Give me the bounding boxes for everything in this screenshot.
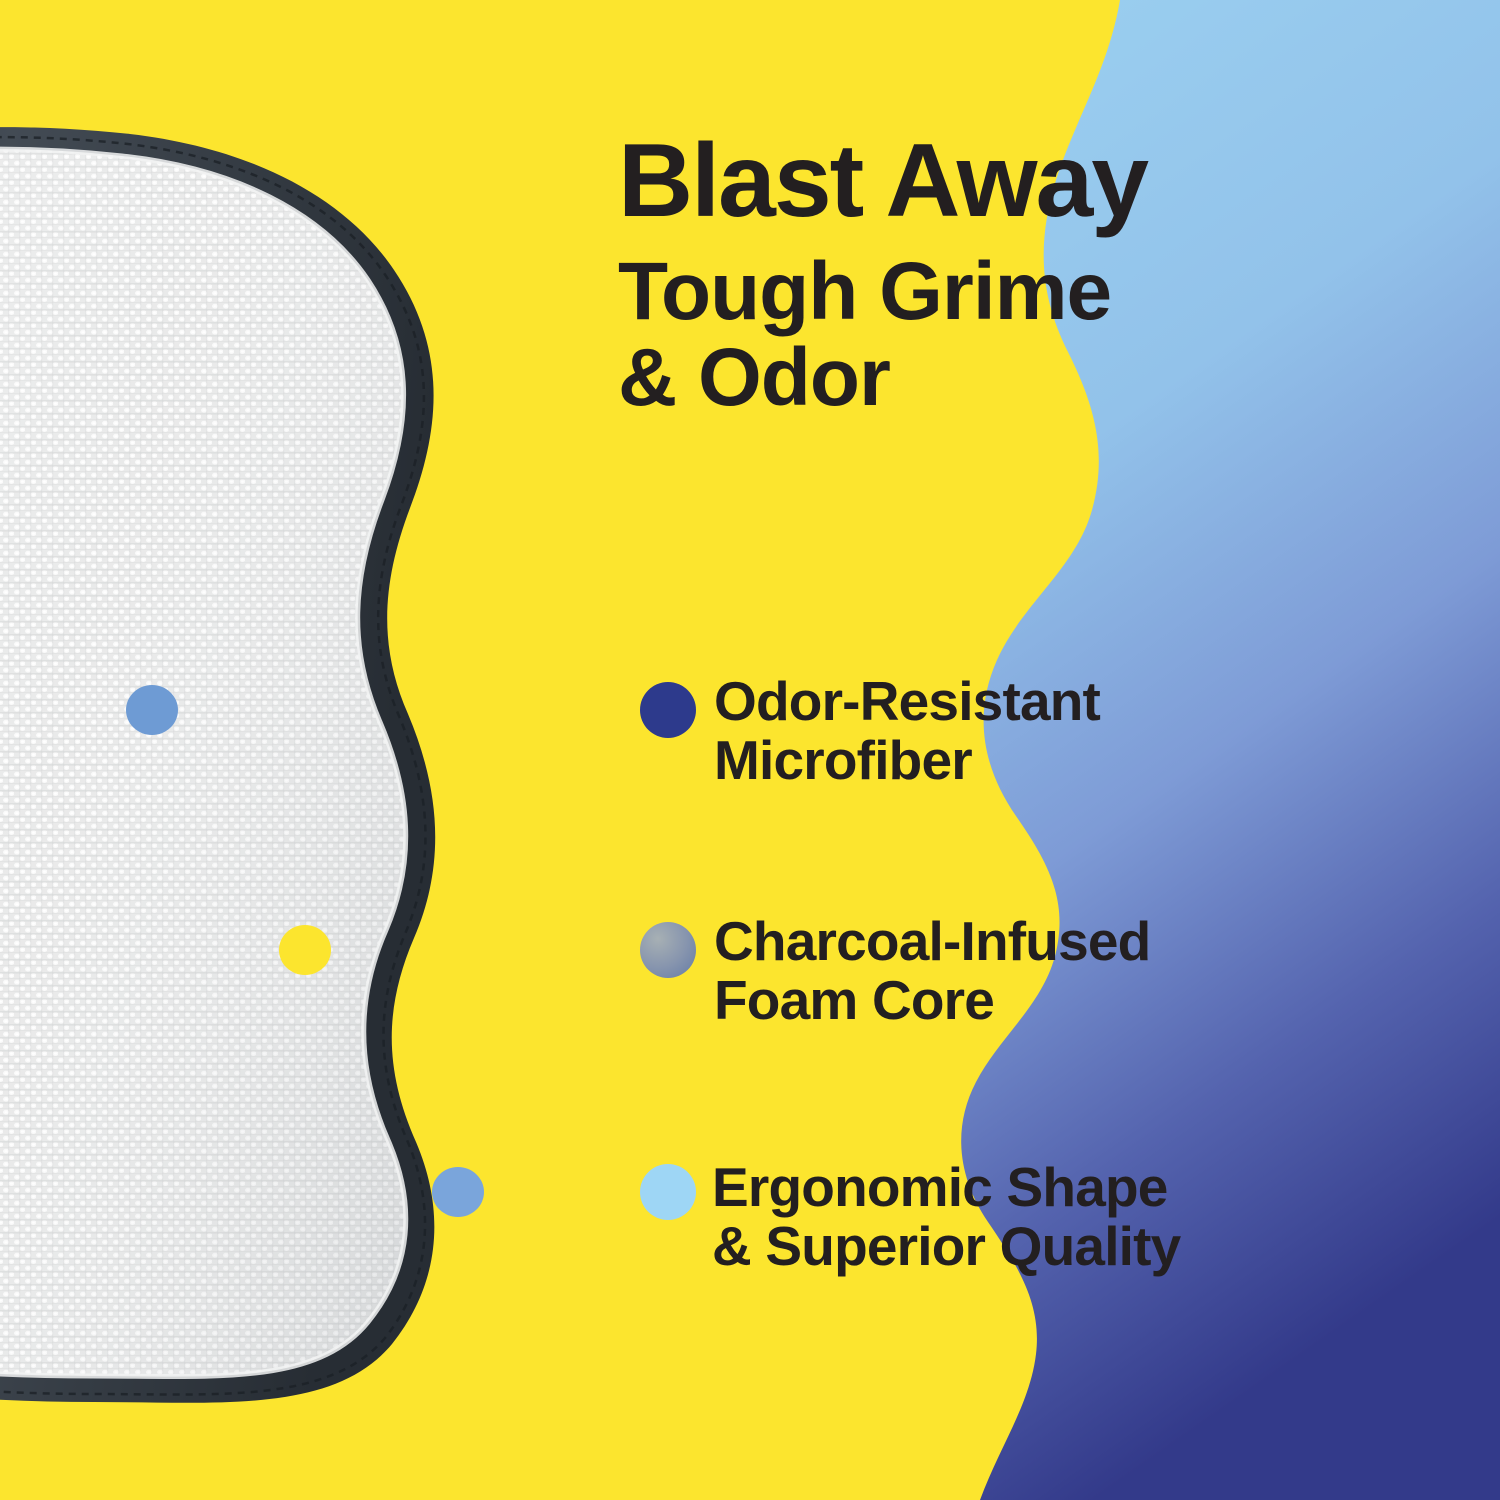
- headline-line-2: Tough Grime: [618, 253, 1458, 331]
- feature-label-line: Microfiber: [714, 731, 1100, 790]
- headline-line-3: & Odor: [618, 339, 1458, 417]
- feature-label-line: Odor-Resistant: [714, 672, 1100, 731]
- feature-label-line: Foam Core: [714, 971, 1150, 1030]
- sponge-microfiber-face: [0, 108, 562, 1408]
- feature-label-line: Ergonomic Shape: [712, 1158, 1180, 1217]
- feature-label-ergonomic-shape-superior-quality: Ergonomic Shape & Superior Quality: [712, 1158, 1180, 1277]
- feature-label-line: Charcoal-Infused: [714, 912, 1150, 971]
- product-feature-graphic: Blast Away Tough Grime & Odor: [0, 0, 1500, 1500]
- headline: Blast Away Tough Grime & Odor: [618, 132, 1458, 417]
- feature-label-line: & Superior Quality: [712, 1217, 1180, 1276]
- headline-line-1: Blast Away: [618, 132, 1458, 231]
- feature-label-charcoal-infused-foam-core: Charcoal-Infused Foam Core: [714, 912, 1150, 1031]
- product-image-sponge: [0, 108, 562, 1408]
- feature-label-odor-resistant-microfiber: Odor-Resistant Microfiber: [714, 672, 1100, 791]
